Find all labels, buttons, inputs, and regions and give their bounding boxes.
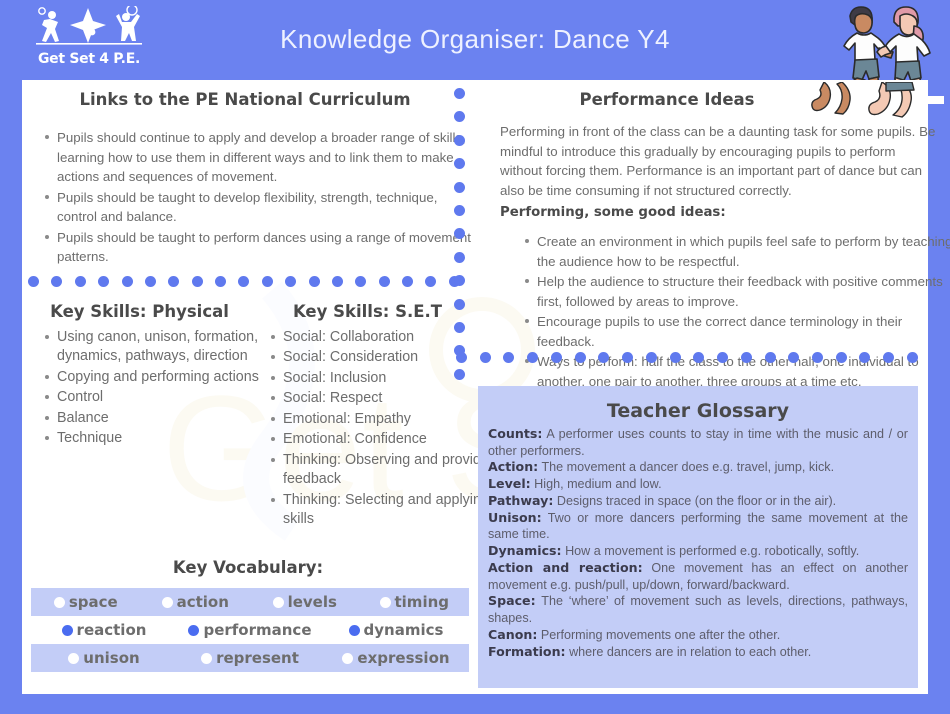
list-item: Emotional: Empathy	[283, 410, 508, 429]
vocabulary-term: timing	[360, 593, 470, 611]
performance-ideas-title: Performance Ideas	[502, 90, 832, 109]
bullet-dot-icon	[273, 597, 284, 608]
vocabulary-term: reaction	[31, 621, 177, 639]
list-item: Balance	[57, 409, 272, 428]
list-item: Pupils should be taught to develop flexi…	[57, 188, 477, 227]
bullet-dot-icon	[62, 625, 73, 636]
list-item: Technique	[57, 429, 272, 448]
brand-name: Get Set 4 P.E.	[30, 51, 148, 67]
vocabulary-term: performance	[177, 621, 323, 639]
glossary-term: Formation:	[488, 644, 566, 659]
brand-logo: Get Set 4 P.E.	[30, 6, 148, 74]
page-title: Knowledge Organiser: Dance Y4	[160, 24, 790, 55]
bullet-dot-icon	[349, 625, 360, 636]
list-item: Pupils should be taught to perform dance…	[57, 228, 477, 267]
list-item: Emotional: Confidence	[283, 430, 508, 449]
national-curriculum-title: Links to the PE National Curriculum	[30, 90, 460, 109]
vocabulary-term: expression	[323, 649, 469, 667]
glossary-entry: Pathway: Designs traced in space (on the…	[488, 493, 908, 510]
key-vocabulary-rows: space action levels timing re	[31, 588, 469, 672]
list-item: Social: Inclusion	[283, 369, 508, 388]
glossary-entry: Unison: Two or more dancers performing t…	[488, 510, 908, 543]
bullet-dot-icon	[380, 597, 391, 608]
list-item: Social: Respect	[283, 389, 508, 408]
page-header: Get Set 4 P.E. Knowledge Organiser: Danc…	[0, 0, 950, 80]
glossary-definition: How a movement is performed e.g. robotic…	[565, 544, 859, 558]
glossary-definition: Performing movements one after the other…	[541, 628, 780, 642]
glossary-term: Space:	[488, 593, 536, 608]
glossary-entry: Space: The ‘where’ of movement such as l…	[488, 593, 908, 626]
bullet-dot-icon	[162, 597, 173, 608]
glossary-entry: Counts: A performer uses counts to stay …	[488, 426, 908, 459]
teacher-glossary-panel: Teacher Glossary Counts: A performer use…	[478, 386, 918, 688]
glossary-term: Action and reaction:	[488, 560, 643, 575]
dancing-feet-illustration-icon	[808, 82, 932, 124]
national-curriculum-list: Pupils should continue to apply and deve…	[40, 128, 477, 268]
glossary-term: Action:	[488, 459, 538, 474]
list-item: Encourage pupils to use the correct danc…	[537, 312, 950, 351]
list-item: Using canon, unison, formation, dynamics…	[57, 328, 272, 367]
key-skills-set-title: Key Skills: S.E.T	[250, 302, 485, 321]
list-item: Help the audience to structure their fee…	[537, 272, 950, 311]
figures-star-logo-icon	[30, 6, 148, 52]
key-vocabulary-row: reaction performance dynamics	[31, 616, 469, 644]
glossary-definition: where dancers are in relation to each ot…	[569, 645, 811, 659]
list-item: Pupils should continue to apply and deve…	[57, 128, 477, 187]
vocabulary-term: levels	[250, 593, 360, 611]
glossary-term: Unison:	[488, 510, 542, 525]
glossary-entry: Dynamics: How a movement is performed e.…	[488, 543, 908, 560]
key-skills-physical-title: Key Skills: Physical	[22, 302, 257, 321]
glossary-definition: The movement a dancer does e.g. travel, …	[541, 460, 834, 474]
list-item: Thinking: Observing and providing feedba…	[283, 451, 508, 490]
vocabulary-term: space	[31, 593, 141, 611]
list-item: Copying and performing actions	[57, 368, 272, 387]
glossary-definition: The ‘where’ of movement such as levels, …	[488, 594, 908, 625]
key-vocabulary-title: Key Vocabulary:	[22, 558, 474, 577]
knowledge-organiser-page: Get Set 4 P.E. Knowledge Organiser: Danc…	[0, 0, 950, 714]
performance-ideas-subheading: Performing, some good ideas:	[500, 205, 726, 220]
list-item: Social: Collaboration	[283, 328, 508, 347]
bullet-dot-icon	[54, 597, 65, 608]
glossary-definition: Two or more dancers performing the same …	[488, 511, 908, 542]
vocabulary-term: represent	[177, 649, 323, 667]
glossary-term: Level:	[488, 476, 531, 491]
divider-dots-horizontal-right	[456, 352, 918, 363]
bullet-dot-icon	[68, 653, 79, 664]
performance-ideas-paragraph: Performing in front of the class can be …	[500, 122, 940, 200]
content-sheet: Get Set Links to the PE National Curricu…	[22, 80, 928, 694]
bullet-dot-icon	[342, 653, 353, 664]
glossary-definition: High, medium and low.	[534, 477, 661, 491]
teacher-glossary-title: Teacher Glossary	[488, 400, 908, 422]
bullet-dot-icon	[188, 625, 199, 636]
glossary-term: Pathway:	[488, 493, 553, 508]
glossary-term: Counts:	[488, 426, 542, 441]
glossary-term: Canon:	[488, 627, 537, 642]
bullet-dot-icon	[201, 653, 212, 664]
key-vocabulary-row: unison represent expression	[31, 644, 469, 672]
glossary-entry: Canon: Performing movements one after th…	[488, 627, 908, 644]
key-skills-physical-list: Using canon, unison, formation, dynamics…	[40, 328, 272, 450]
glossary-term: Dynamics:	[488, 543, 562, 558]
list-item: Thinking: Selecting and applying skills	[283, 491, 508, 530]
performance-ideas-list: Create an environment in which pupils fe…	[520, 232, 950, 392]
list-item: Control	[57, 388, 272, 407]
vocabulary-term: dynamics	[323, 621, 469, 639]
divider-dots-horizontal-left	[28, 276, 460, 287]
glossary-entry: Action and reaction: One movement has an…	[488, 560, 908, 593]
vocabulary-term: unison	[31, 649, 177, 667]
vocabulary-term: action	[141, 593, 251, 611]
glossary-entry: Action: The movement a dancer does e.g. …	[488, 459, 908, 476]
glossary-definition: A performer uses counts to stay in time …	[488, 427, 908, 458]
glossary-definition: Designs traced in space (on the floor or…	[557, 494, 836, 508]
glossary-entry: Level: High, medium and low.	[488, 476, 908, 493]
glossary-entry: Formation: where dancers are in relation…	[488, 644, 908, 661]
list-item: Create an environment in which pupils fe…	[537, 232, 950, 271]
key-vocabulary-row: space action levels timing	[31, 588, 469, 616]
